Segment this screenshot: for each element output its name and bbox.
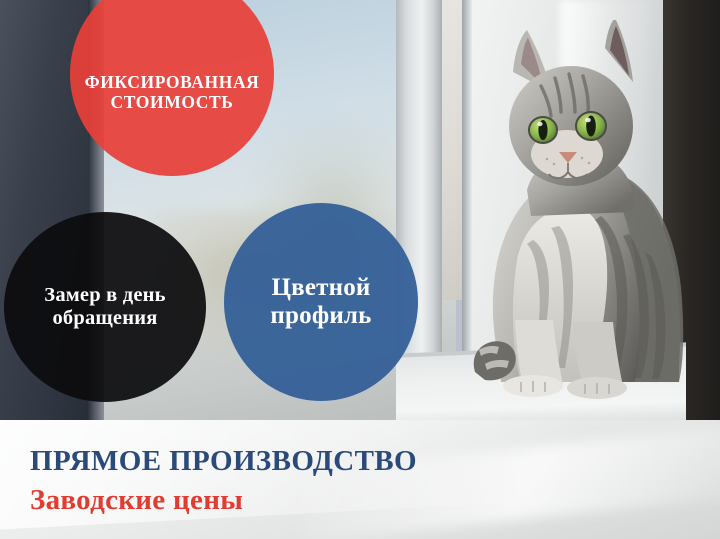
banner-subline: Заводские цены	[30, 486, 417, 515]
badge-same-day-measurement-line2: обращения	[52, 307, 157, 329]
badge-same-day-measurement: Замер в день обращения	[4, 212, 206, 402]
badge-color-profile-line2: профиль	[270, 302, 371, 329]
badge-color-profile: Цветной профиль	[224, 203, 418, 401]
badge-color-profile-line1: Цветной	[271, 274, 370, 301]
banner-text-block: ПРЯМОЕ ПРОИЗВОДСТВО Заводские цены	[30, 447, 417, 515]
badge-same-day-measurement-line1: Замер в день	[44, 284, 165, 306]
badge-fixed-price-line1: ФИКСИРОВАННАЯ	[85, 72, 260, 92]
bottom-banner: ПРЯМОЕ ПРОИЗВОДСТВО Заводские цены КОНСИ…	[0, 420, 720, 539]
cat-photo-subject	[455, 20, 705, 410]
banner-headline: ПРЯМОЕ ПРОИЗВОДСТВО	[30, 447, 417, 476]
advertisement-banner: ФИКСИРОВАННАЯ СТОИМОСТЬ Замер в день обр…	[0, 0, 720, 539]
badge-fixed-price-line2: СТОИМОСТЬ	[111, 92, 234, 112]
